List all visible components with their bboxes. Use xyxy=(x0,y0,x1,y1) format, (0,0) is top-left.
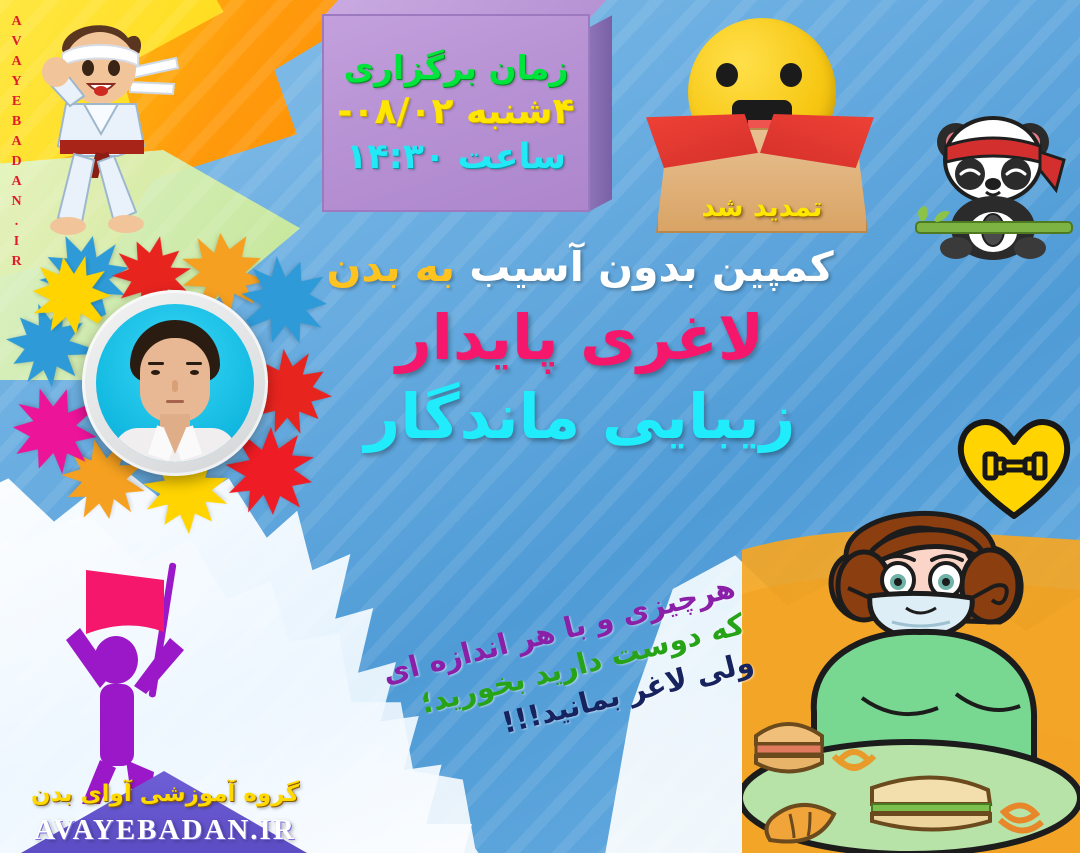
headline-main-1: لاغری پایدار xyxy=(280,305,880,370)
event-date-box: زمان برگزاری ۴شنبه ۰۸/۰۲- ساعت ۱۴:۳۰ xyxy=(322,14,590,212)
meditating-panda-icon xyxy=(912,108,1076,268)
portrait-eyebrow xyxy=(186,362,202,365)
date-box-side-face xyxy=(588,15,612,212)
portrait-eyebrow xyxy=(148,362,164,365)
footer-brand: گروه آموزشی آوای بدن AVAYEBADAN.IR xyxy=(0,753,330,853)
instructor-portrait xyxy=(30,238,320,528)
date-box-line-1: زمان برگزاری xyxy=(344,49,569,87)
footer-brand-fa: گروه آموزشی آوای بدن xyxy=(0,781,330,807)
date-box-front-face: زمان برگزاری ۴شنبه ۰۸/۰۲- ساعت ۱۴:۳۰ xyxy=(322,14,590,212)
karate-boy-icon xyxy=(18,6,188,236)
smiling-face-in-box-icon: تمدید شد xyxy=(640,18,880,233)
portrait-nose xyxy=(172,380,178,392)
date-box-line-3: ساعت ۱۴:۳۰ xyxy=(346,137,566,177)
smiley-eye xyxy=(716,63,738,87)
headline-block: کمپین بدون آسیب به بدن لاغری پایدار زیبا… xyxy=(280,246,880,449)
headline-subtitle-white: کمپین بدون آسیب xyxy=(469,243,833,291)
vertical-site-text: AVAYEBADAN.IR xyxy=(8,14,24,274)
eating-woman-icon xyxy=(742,498,1080,853)
portrait-ring xyxy=(82,290,268,476)
headline-main-2: زیبایی ماندگار xyxy=(280,384,880,449)
date-box-line-2: ۴شنبه ۰۸/۰۲- xyxy=(337,91,574,132)
headline-subtitle: کمپین بدون آسیب به بدن xyxy=(280,246,880,289)
portrait-photo xyxy=(96,304,254,462)
portrait-eye xyxy=(151,370,160,375)
headline-subtitle-yellow: به بدن xyxy=(326,243,455,291)
portrait-mouth xyxy=(166,400,184,403)
portrait-eye xyxy=(190,370,199,375)
promo-extended-label: تمدید شد xyxy=(658,192,866,223)
poster-canvas: AVAYEBADAN.IR زمان برگزاری ۴شنبه ۰۸/۰۲- … xyxy=(0,0,1080,853)
smiley-eye xyxy=(780,63,802,87)
footer-brand-en: AVAYEBADAN.IR xyxy=(0,814,330,847)
